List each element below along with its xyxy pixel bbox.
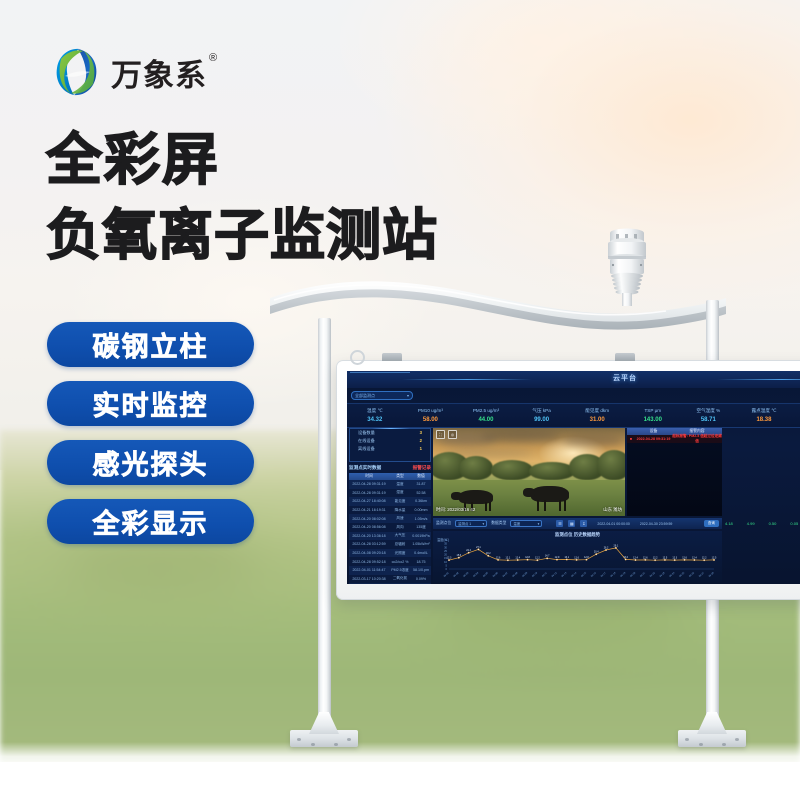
table-cell: 18.75 (411, 560, 431, 564)
svg-text:12.5: 12.5 (663, 556, 668, 559)
svg-text:04-20: 04-20 (630, 571, 637, 578)
metric-value: 34.32 (347, 415, 403, 425)
svg-text:04-16: 04-16 (590, 571, 597, 578)
svg-text:25: 25 (444, 549, 447, 553)
time-range-end[interactable]: 2022-04-30 23:59:59 (640, 522, 673, 526)
table-cell: 大气压 (389, 533, 411, 538)
site-select-dropdown[interactable]: 全部监测点 ▾ (351, 391, 413, 400)
camera-timestamp: 时间: 2022/03/16 42 (436, 507, 475, 513)
svg-text:04-04: 04-04 (473, 571, 480, 578)
time-range-start[interactable]: 2022-04-01 00:00:00 (597, 522, 630, 526)
table-row: 2022-04-08 09:20:18光照度0.4mol/L (349, 549, 431, 558)
svg-text:27.1: 27.1 (476, 546, 481, 549)
chevron-down-icon: ▾ (538, 522, 540, 526)
svg-text:13.1: 13.1 (564, 556, 569, 559)
stat-row: 离线设备 1 (350, 445, 430, 453)
table-row: 2022-04-28 09:52:18co2/co2 %18.75 (349, 557, 431, 566)
wave-canopy-roof (268, 280, 728, 342)
metric-value: 58.00 (403, 415, 459, 425)
camera-feed[interactable]: ⛶ ◎ 时间: 2022/03/16 42 山东 潍坊 (433, 428, 625, 516)
table-cell: 总辐射 (389, 542, 411, 547)
metric-item: 气压 kPa 99.00 (514, 407, 570, 425)
svg-text:04-21: 04-21 (639, 571, 646, 578)
table-row: 2022-04-28 09:31:19湿度52.58 (349, 489, 431, 498)
svg-text:04-25: 04-25 (679, 571, 686, 578)
table-row: 2022-04-20 08:56:08风向135度 (349, 523, 431, 532)
svg-text:04-24: 04-24 (669, 571, 676, 578)
svg-text:04-27: 04-27 (698, 571, 705, 578)
svg-text:04-09: 04-09 (522, 571, 529, 578)
table-cell: PM2.5浓度 (389, 568, 411, 573)
metric-label: 噪声 db (792, 407, 800, 415)
site-filter-label: 监测点位 (436, 521, 451, 526)
camera-watermark: 山东 潍坊 (603, 507, 622, 513)
svg-text:04-05: 04-05 (482, 571, 489, 578)
chart-control-bar: 监测点位 监测点 1 ▾ 数据类型 温度 ▾ ☰ ▦ (433, 518, 722, 529)
svg-text:04-15: 04-15 (581, 571, 588, 578)
metric-value: 44.00 (458, 415, 514, 425)
metric-value: 143.00 (625, 415, 681, 425)
stat-row: 设备数量 3 (350, 429, 430, 437)
metric-label: 能见度 dkm (569, 407, 625, 415)
svg-text:15.6: 15.6 (456, 554, 461, 557)
table-row: 2022-04-28 09:31:19温度31.87 (349, 480, 431, 489)
data-table-header-row: 监测点实时数据 报警记录 (349, 465, 431, 471)
table-cell: 0.0019hPa (411, 534, 431, 538)
table-cell: 52.58 (411, 491, 431, 495)
svg-text:04-01: 04-01 (443, 571, 450, 578)
chevron-down-icon: ▾ (407, 393, 409, 398)
carbon-steel-post-left (318, 318, 331, 730)
svg-text:12.5: 12.5 (712, 556, 717, 559)
table-cell: 0.00mm (411, 508, 431, 512)
table-cell: 2022-04-01 11:54:47 (349, 568, 389, 572)
svg-text:12.9: 12.9 (555, 556, 560, 559)
data-table-body: 2022-04-28 09:31:19温度31.872022-04-28 09:… (349, 480, 431, 584)
data-table-title: 监测点实时数据 (349, 465, 381, 471)
table-row: 2022-04-27 18:40:08能见度0.36km (349, 497, 431, 506)
column-header: 类型 (389, 474, 411, 479)
svg-text:04-18: 04-18 (610, 571, 617, 578)
svg-text:10: 10 (444, 560, 447, 564)
column-header: 设备 (635, 429, 672, 434)
device-stats-box: 设备数量 3 在线设备 2 离线设备 1 (349, 428, 431, 462)
svg-text:29.1: 29.1 (614, 544, 619, 547)
svg-text:04-28: 04-28 (708, 571, 715, 578)
svg-text:12.6: 12.6 (496, 556, 501, 559)
svg-text:12.2: 12.2 (653, 557, 658, 560)
table-row: 2022-03-17 10:20:38二氧化氮0.09% (349, 575, 431, 584)
table-cell: 0.09% (411, 577, 431, 581)
svg-text:04-17: 04-17 (600, 571, 607, 578)
table-cell: 降水量 (389, 508, 411, 513)
table-cell: 2022-04-28 03:12:59 (349, 542, 389, 546)
fullscreen-icon[interactable]: ⛶ (436, 430, 445, 439)
metric-label: 温度 ℃ (347, 407, 403, 415)
svg-text:22.4: 22.4 (466, 549, 471, 552)
table-row: 2022-04-01 11:54:47PM2.5浓度58.1/0.pm (349, 566, 431, 575)
metric-item: 空气湿度 % 58.71 (681, 407, 737, 425)
site-filter-value: 监测点 1 (458, 521, 471, 526)
table-cell: 0.36km (411, 499, 431, 503)
svg-text:12.4: 12.4 (515, 556, 520, 559)
export-icon[interactable]: ↧ (580, 520, 587, 527)
side-stat-value: 0.50 (769, 521, 777, 535)
alarm-marker-icon: ■ (627, 437, 635, 441)
alarm-panel: 设备 报警内容 ■ 2022-04-28 09:31:19 超标报警: PM2.… (627, 428, 722, 516)
svg-text:12.2: 12.2 (535, 557, 540, 560)
table-cell: 135度 (411, 525, 431, 530)
table-cell: 2022-04-20 08:56:08 (349, 525, 389, 529)
svg-text:04-08: 04-08 (512, 571, 519, 578)
table-cell: 温度 (389, 482, 411, 487)
metric-value: 48.00 (792, 415, 800, 425)
side-stat-value: 4.18 (725, 521, 733, 535)
side-stat-value: 4.99 (747, 521, 755, 535)
metrics-row: 温度 ℃ 34.32 PM10 ug/m³ 58.00 PM2.5 ug/m³ … (347, 403, 800, 428)
table-cell: 1.05kW/m² (411, 542, 431, 546)
metric-item: 露点温度 ℃ 18.38 (736, 407, 792, 425)
data-table-columns: 时间 类型 数值 (349, 473, 431, 480)
svg-text:26.2: 26.2 (604, 546, 609, 549)
table-cell: 2022-04-27 18:40:08 (349, 499, 389, 503)
alarm-records-link[interactable]: 报警记录 (413, 465, 431, 471)
stat-label: 在线设备 (358, 438, 375, 444)
metric-label: PM10 ug/m³ (403, 407, 459, 415)
side-stat-value: 0.05 (790, 521, 798, 535)
table-cell: 1.05m/s (411, 517, 431, 521)
table-cell: co2/co2 % (389, 560, 411, 564)
site-select-value: 全部监测点 (355, 393, 375, 399)
table-row: 2022-04-21 16:19:31降水量0.00mm (349, 506, 431, 515)
svg-text:04-02: 04-02 (453, 571, 460, 578)
alarm-content: 超标报警: PM2.5 值超过设定阈值 (672, 434, 722, 444)
table-cell: 2022-04-28 09:52:18 (349, 560, 389, 564)
svg-text:12.3: 12.3 (672, 556, 677, 559)
table-cell: 湿度 (389, 490, 411, 495)
svg-text:20.4: 20.4 (594, 551, 599, 554)
stat-value: 2 (420, 438, 422, 444)
cabinet-mount-tab (382, 353, 402, 361)
cabinet-mount-tab (615, 353, 635, 361)
snapshot-icon[interactable]: ◎ (448, 430, 457, 439)
cabinet-bezel: 云平台 全部监测点 ▾ 欢迎您 admin 退出 温度 ℃ 34.32 (336, 360, 800, 600)
svg-text:04-11: 04-11 (541, 571, 548, 578)
metric-label: PM2.5 ug/m³ (458, 407, 514, 415)
cabinet-lift-eyelet (350, 350, 365, 365)
table-row: 2022-04-20 08:02:08风速1.05m/s (349, 514, 431, 523)
svg-text:12.4: 12.4 (692, 556, 697, 559)
svg-text:12.2: 12.2 (702, 557, 707, 560)
type-filter-select[interactable]: 温度 ▾ (510, 520, 542, 527)
metric-label: 露点温度 ℃ (736, 407, 792, 415)
type-filter-value: 温度 (513, 521, 520, 526)
table-cell: 2022-04-21 16:19:31 (349, 508, 389, 512)
svg-text:04-22: 04-22 (649, 571, 656, 578)
svg-text:12.6: 12.6 (682, 556, 687, 559)
metric-item: PM2.5 ug/m³ 44.00 (458, 407, 514, 425)
table-cell: 2022-04-08 09:20:18 (349, 551, 389, 555)
column-header: 数值 (411, 474, 431, 479)
table-cell: 二氧化氮 (389, 576, 411, 581)
table-row: 2022-04-28 03:12:59总辐射1.05kW/m² (349, 540, 431, 549)
screen-title: 云平台 (347, 373, 800, 383)
table-cell: 58.1/0.pm (411, 568, 431, 572)
led-display-screen: 云平台 全部监测点 ▾ 欢迎您 admin 退出 温度 ℃ 34.32 (347, 371, 800, 584)
svg-text:30: 30 (444, 545, 447, 549)
svg-text:13.2: 13.2 (623, 556, 628, 559)
site-filter-select[interactable]: 监测点 1 ▾ (455, 520, 487, 527)
metric-value: 58.71 (681, 415, 737, 425)
metric-item: 温度 ℃ 34.32 (347, 407, 403, 425)
svg-text:18.2: 18.2 (486, 552, 491, 555)
table-row: 2022-03-15 15:54:28二氧化硫0.07% (349, 583, 431, 584)
table-cell: 风速 (389, 516, 411, 521)
table-cell: 2022-04-28 09:31:19 (349, 482, 389, 486)
monitoring-station: 云平台 全部监测点 ▾ 欢迎您 admin 退出 温度 ℃ 34.32 (0, 0, 800, 800)
svg-text:12.3: 12.3 (447, 556, 452, 559)
svg-text:5: 5 (446, 563, 448, 567)
chart-canvas: 051015202530354012.315.622.427.118.212.6… (433, 536, 722, 582)
view-mode-icons: ☰ ▦ ↧ (556, 520, 587, 527)
svg-text:04-12: 04-12 (551, 571, 558, 578)
square-mounting-base-plate-right (678, 712, 746, 748)
stat-label: 设备数量 (358, 430, 375, 436)
svg-text:04-03: 04-03 (463, 571, 470, 578)
list-icon[interactable]: ☰ (556, 520, 563, 527)
metric-item: TSP μm 143.00 (625, 407, 681, 425)
chart-side-stats: 4.18 4.99 0.50 0.05 (725, 521, 800, 535)
svg-text:12.4: 12.4 (633, 556, 638, 559)
square-mounting-base-plate-left (290, 712, 358, 748)
table-cell: 2022-04-28 09:31:19 (349, 491, 389, 495)
svg-text:0: 0 (446, 567, 448, 571)
stat-label: 离线设备 (358, 446, 375, 452)
svg-text:35: 35 (444, 542, 447, 546)
svg-text:04-26: 04-26 (688, 571, 695, 578)
metric-label: TSP μm (625, 407, 681, 415)
chevron-down-icon: ▾ (482, 522, 484, 526)
stat-value: 3 (420, 430, 422, 436)
metric-value: 99.00 (514, 415, 570, 425)
svg-text:04-13: 04-13 (561, 571, 568, 578)
alarm-row: ■ 2022-04-28 09:31:19 超标报警: PM2.5 值超过设定阈… (627, 435, 722, 443)
svg-text:04-19: 04-19 (620, 571, 627, 578)
left-sidebar: 设备数量 3 在线设备 2 离线设备 1 (349, 428, 431, 584)
type-filter-label: 数据类型 (491, 521, 506, 526)
svg-text:14.7: 14.7 (545, 555, 550, 558)
metric-item: 噪声 db 48.00 (792, 407, 800, 425)
svg-text:04-07: 04-07 (502, 571, 509, 578)
stat-value: 1 (420, 446, 422, 452)
svg-text:12.8: 12.8 (584, 556, 589, 559)
stat-row: 在线设备 2 (350, 437, 430, 445)
metric-label: 空气湿度 % (681, 407, 737, 415)
metric-value: 18.38 (736, 415, 792, 425)
table-cell: 能见度 (389, 499, 411, 504)
svg-text:12.6: 12.6 (574, 556, 579, 559)
product-marketing-image: 万象系 ® 全彩屏 负氧离子监测站 碳钢立柱 实时监控 感光探头 全彩显示 (0, 0, 800, 800)
grid-icon[interactable]: ▦ (568, 520, 575, 527)
svg-text:12.8: 12.8 (525, 556, 530, 559)
table-cell: 31.87 (411, 482, 431, 486)
metric-item: 能见度 dkm 31.00 (569, 407, 625, 425)
table-row: 2022-04-20 13:36:18大气压0.0019hPa (349, 532, 431, 541)
svg-text:04-10: 04-10 (531, 571, 538, 578)
history-trend-chart: 监测点位 历史数据趋势 温度(℃) 051015202530354012.315… (433, 531, 722, 582)
svg-text:12.1: 12.1 (506, 557, 511, 560)
svg-text:04-23: 04-23 (659, 571, 666, 578)
metric-label: 气压 kPa (514, 407, 570, 415)
column-header: 时间 (349, 474, 389, 479)
table-cell: 2022-03-17 10:20:38 (349, 577, 389, 581)
table-cell: 风向 (389, 525, 411, 530)
svg-text:12.6: 12.6 (643, 556, 648, 559)
table-cell: 2022-04-20 08:02:08 (349, 517, 389, 521)
svg-text:04-14: 04-14 (571, 571, 578, 578)
metric-item: PM10 ug/m³ 58.00 (403, 407, 459, 425)
ultrasonic-weather-sensor (598, 226, 656, 306)
query-button[interactable]: 查询 (704, 520, 719, 527)
table-cell: 0.4mol/L (411, 551, 431, 555)
alarm-device: 2022-04-28 09:31:19 (635, 437, 672, 441)
table-cell: 光照度 (389, 551, 411, 556)
svg-text:04-06: 04-06 (492, 571, 499, 578)
table-cell: 2022-04-20 13:36:18 (349, 534, 389, 538)
camera-overlay-icons: ⛶ ◎ (436, 430, 457, 439)
svg-text:40: 40 (444, 538, 447, 542)
metric-value: 31.00 (569, 415, 625, 425)
